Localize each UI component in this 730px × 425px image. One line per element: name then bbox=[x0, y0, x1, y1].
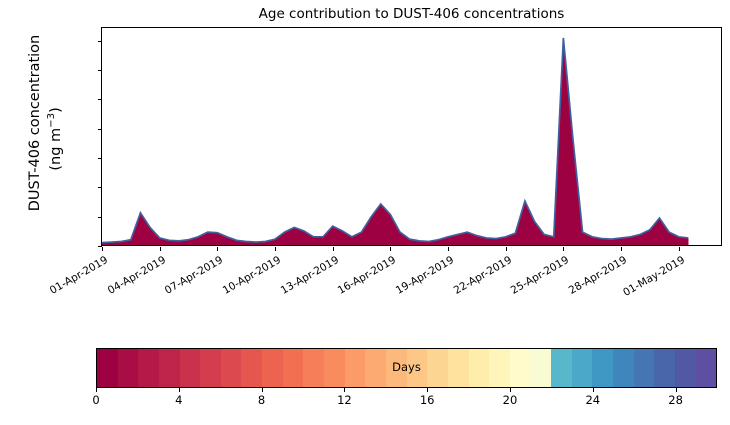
colorbar-tick bbox=[510, 388, 511, 392]
area-layer bbox=[102, 40, 688, 245]
colorbar-segment bbox=[613, 349, 634, 387]
colorbar[interactable] bbox=[96, 348, 717, 388]
colorbar-segment bbox=[262, 349, 283, 387]
colorbar-segment bbox=[159, 349, 180, 387]
colorbar-segment bbox=[345, 349, 366, 387]
colorbar-segment bbox=[634, 349, 655, 387]
plot-area: 050100150200250300350 01-Apr-201904-Apr-… bbox=[101, 27, 722, 246]
colorbar-tick-label: 20 bbox=[490, 393, 530, 407]
area-layer bbox=[102, 38, 688, 245]
page-title: Age contribution to DUST-406 concentrati… bbox=[101, 5, 722, 23]
colorbar-segment bbox=[510, 349, 531, 387]
colorbar-tick bbox=[344, 388, 345, 392]
y-axis-label-line2: (ng m−3) bbox=[46, 19, 64, 259]
area-layer bbox=[102, 62, 688, 245]
plot-clip-region bbox=[102, 28, 721, 245]
colorbar-segment bbox=[324, 349, 345, 387]
x-axis-tick bbox=[448, 247, 449, 251]
y-axis-units-close: ) bbox=[48, 107, 64, 113]
x-axis-tick bbox=[333, 247, 334, 251]
colorbar-segment bbox=[407, 349, 428, 387]
colorbar-tick bbox=[427, 388, 428, 392]
colorbar-segment bbox=[386, 349, 407, 387]
colorbar-tick bbox=[96, 388, 97, 392]
colorbar-segment bbox=[592, 349, 613, 387]
y-axis-units-exponent: −3 bbox=[46, 113, 57, 128]
colorbar-segment bbox=[303, 349, 324, 387]
y-axis-units-main: (ng m bbox=[48, 128, 64, 171]
colorbar-segment bbox=[200, 349, 221, 387]
area-layer bbox=[102, 39, 688, 245]
colorbar-tick-label: 24 bbox=[573, 393, 613, 407]
y-axis-label: DUST-406 concentration (ng m−3) bbox=[0, 0, 70, 255]
colorbar-segment bbox=[283, 349, 304, 387]
y-axis-tick bbox=[98, 158, 102, 159]
x-axis-tick bbox=[217, 247, 218, 251]
y-axis-tick bbox=[98, 99, 102, 100]
colorbar-segment bbox=[241, 349, 262, 387]
y-axis-tick bbox=[98, 246, 102, 247]
colorbar-segment bbox=[530, 349, 551, 387]
colorbar-segment bbox=[138, 349, 159, 387]
colorbar-tick bbox=[262, 388, 263, 392]
colorbar-tick-label: 28 bbox=[656, 393, 696, 407]
area-layer bbox=[102, 51, 688, 245]
area-layer bbox=[102, 70, 688, 245]
y-axis-tick bbox=[98, 129, 102, 130]
colorbar-segment bbox=[97, 349, 118, 387]
area-layer bbox=[102, 44, 688, 245]
colorbar-segment bbox=[696, 349, 717, 387]
colorbar-segment bbox=[572, 349, 593, 387]
colorbar-tick-label: 16 bbox=[407, 393, 447, 407]
x-axis-tick bbox=[506, 247, 507, 251]
colorbar-segment bbox=[180, 349, 201, 387]
colorbar-tick bbox=[179, 388, 180, 392]
stacked-area-chart bbox=[102, 28, 721, 245]
figure-canvas: Age contribution to DUST-406 concentrati… bbox=[0, 0, 730, 425]
colorbar-segment bbox=[489, 349, 510, 387]
colorbar-segment bbox=[654, 349, 675, 387]
area-layer bbox=[102, 41, 688, 245]
x-axis-tick bbox=[563, 247, 564, 251]
area-layer bbox=[102, 80, 688, 245]
colorbar-segment bbox=[448, 349, 469, 387]
y-axis-tick bbox=[98, 41, 102, 42]
colorbar-segment bbox=[118, 349, 139, 387]
total-envelope-line bbox=[102, 38, 688, 243]
y-axis-label-line1: DUST-406 concentration bbox=[27, 3, 43, 243]
colorbar-tick bbox=[676, 388, 677, 392]
colorbar-tick-label: 0 bbox=[76, 393, 116, 407]
x-axis-tick bbox=[679, 247, 680, 251]
area-layer bbox=[102, 38, 688, 245]
colorbar-tick-label: 4 bbox=[159, 393, 199, 407]
y-axis-tick bbox=[98, 187, 102, 188]
colorbar-segment bbox=[551, 349, 572, 387]
area-layer bbox=[102, 47, 688, 245]
x-axis-tick bbox=[621, 247, 622, 251]
x-axis-tick bbox=[275, 247, 276, 251]
y-axis-tick bbox=[98, 70, 102, 71]
colorbar-segment bbox=[221, 349, 242, 387]
area-layer bbox=[102, 56, 688, 245]
x-axis-tick bbox=[160, 247, 161, 251]
colorbar-segment bbox=[427, 349, 448, 387]
colorbar-tick-label: 12 bbox=[324, 393, 364, 407]
colorbar-segment bbox=[675, 349, 696, 387]
colorbar-tick-label: 8 bbox=[242, 393, 282, 407]
x-axis-tick bbox=[390, 247, 391, 251]
colorbar-segment bbox=[469, 349, 490, 387]
colorbar-tick bbox=[593, 388, 594, 392]
x-axis-tick bbox=[102, 247, 103, 251]
colorbar-segment bbox=[365, 349, 386, 387]
y-axis-tick bbox=[98, 217, 102, 218]
